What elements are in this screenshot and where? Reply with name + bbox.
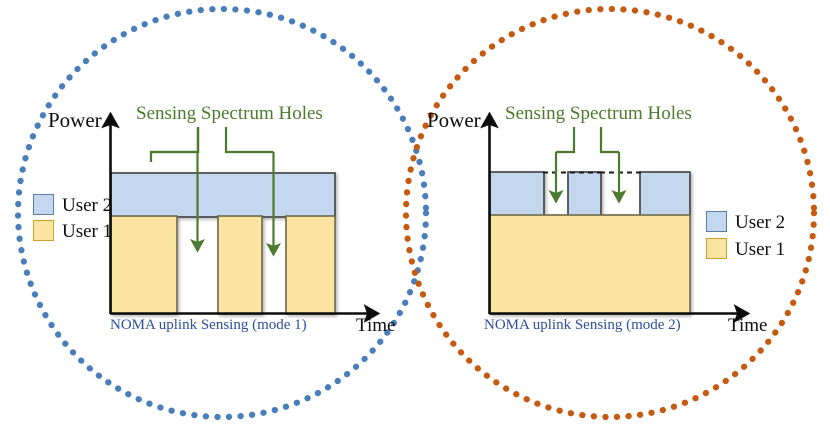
mode1-user1-burst-2 [218,216,262,314]
mode2-user1-block [490,215,690,314]
mode2-caption: NOMA uplink Sensing (mode 2) [484,318,681,333]
mode1-y-axis-label: Power [48,110,102,131]
mode1-bracket-right [226,127,274,152]
mode2-user2-burst-1 [490,172,544,216]
mode2-plot [490,120,743,314]
figure-canvas: Power Sensing Spectrum Holes NOMA uplink… [0,0,830,432]
mode1-annotation-label: Sensing Spectrum Holes [136,104,323,123]
mode2-legend-label-user2: User 2 [735,213,785,232]
mode1-leader-left-stem [151,127,198,162]
mode1-plot [111,120,373,314]
mode1-legend-swatch-user2 [33,194,54,215]
mode2-bracket-right [601,127,619,152]
mode1-user2-band [111,173,335,217]
mode1-user1-burst-1 [111,216,177,314]
mode1-bars [111,173,335,314]
mode1-x-axis-label: Time [356,316,395,335]
mode1-legend-swatch-user1 [33,220,54,241]
mode2-user2-burst-3 [640,172,690,216]
mode1-bracket-left [151,127,199,152]
mode2-x-axis-label: Time [728,316,767,335]
mode1-legend-label-user2: User 2 [62,196,112,215]
mode2-bracket-left [556,127,574,152]
mode2-legend-swatch-user1 [706,238,727,259]
mode2-legend-swatch-user2 [706,211,727,232]
mode1-user1-burst-3 [286,216,335,314]
mode2-bars [490,172,690,314]
mode1-legend-label-user1: User 1 [62,222,112,241]
mode2-user2-burst-2 [568,172,601,216]
mode1-caption: NOMA uplink Sensing (mode 1) [110,318,307,333]
mode2-y-axis-label: Power [427,110,481,131]
mode2-annotation-label: Sensing Spectrum Holes [505,104,692,123]
mode2-legend-label-user1: User 1 [735,240,785,259]
